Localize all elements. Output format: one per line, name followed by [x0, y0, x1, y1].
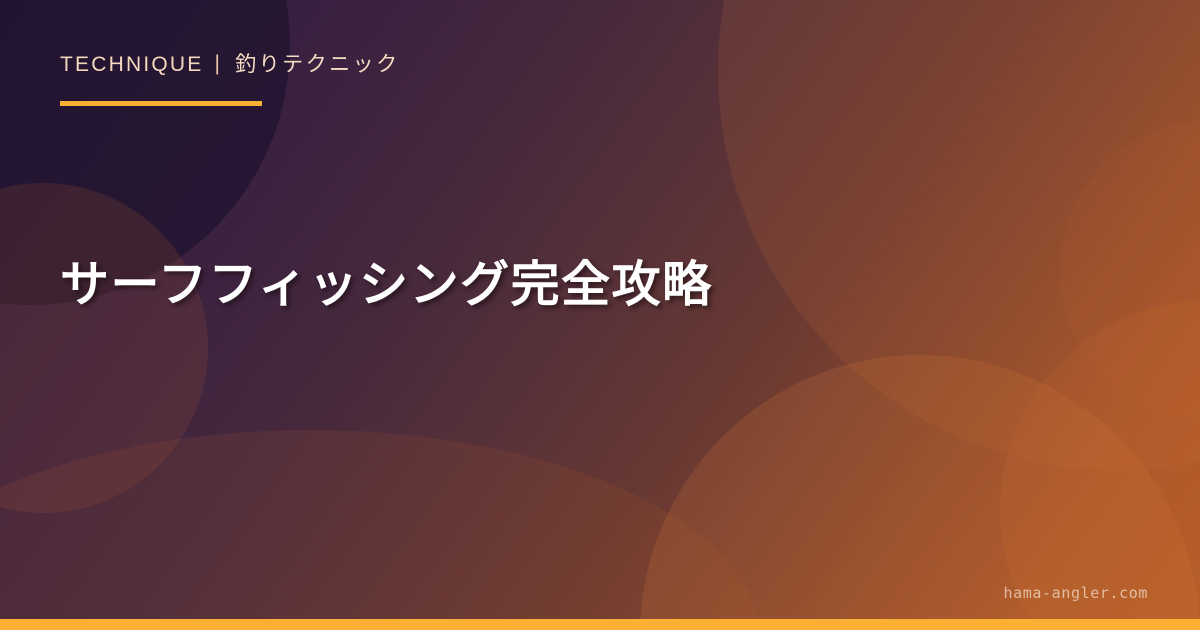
- site-watermark: hama-angler.com: [1004, 584, 1148, 602]
- bottom-accent-bar: [0, 619, 1200, 630]
- eyebrow-separator-icon: |: [214, 53, 222, 74]
- card-content: TECHNIQUE | 釣りテクニック サーフフィッシング完全攻略 hama-a…: [0, 0, 1200, 630]
- category-eyebrow-text-row: TECHNIQUE | 釣りテクニック: [60, 54, 400, 75]
- page-title: サーフフィッシング完全攻略: [60, 258, 713, 313]
- category-label-jp: 釣りテクニック: [235, 54, 400, 75]
- og-image-card: TECHNIQUE | 釣りテクニック サーフフィッシング完全攻略 hama-a…: [0, 0, 1200, 630]
- category-label-en: TECHNIQUE: [60, 54, 203, 75]
- eyebrow-accent-rule: [60, 101, 262, 106]
- category-eyebrow: TECHNIQUE | 釣りテクニック: [60, 54, 400, 106]
